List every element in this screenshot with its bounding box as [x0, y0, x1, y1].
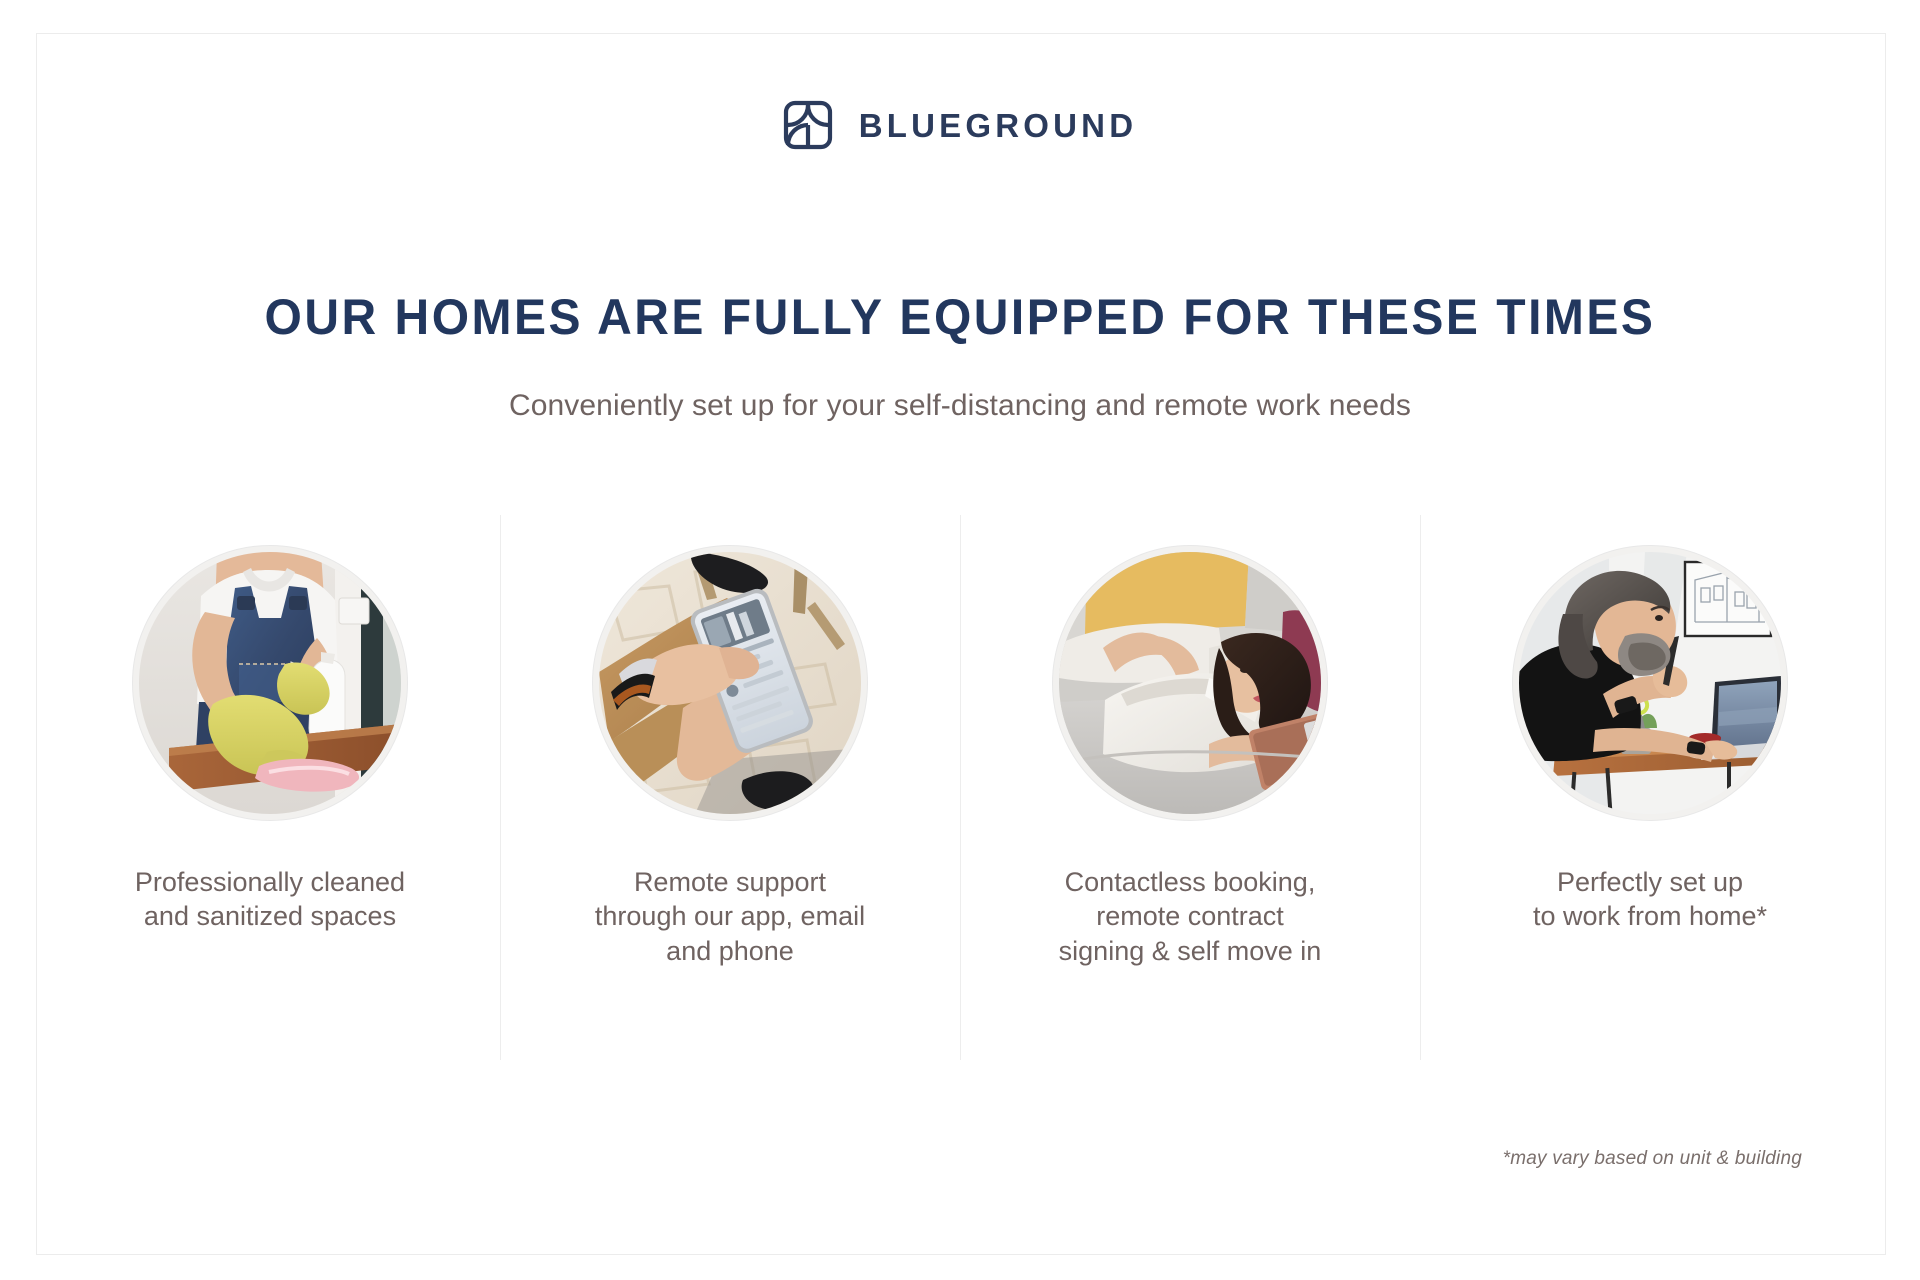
feature-caption: Remote support through our app, email an…	[565, 865, 895, 968]
contactless-booking-photo	[1052, 545, 1328, 821]
feature-column-cleaning: Professionally cleaned and sanitized spa…	[40, 515, 500, 1065]
feature-caption: Contactless booking, remote contract sig…	[1025, 865, 1355, 968]
mobile-app-support-photo	[592, 545, 868, 821]
blueground-logo-icon	[783, 100, 833, 150]
feature-caption: Perfectly set up to work from home*	[1485, 865, 1815, 934]
infographic-page: BLUEGROUND OUR HOMES ARE FULLY EQUIPPED …	[0, 0, 1920, 1280]
footnote-disclaimer: *may vary based on unit & building	[1503, 1148, 1802, 1170]
brand-lockup: BLUEGROUND	[0, 100, 1920, 150]
page-subtitle: Conveniently set up for your self-distan…	[0, 388, 1920, 424]
feature-column-contactless-booking: Contactless booking, remote contract sig…	[960, 515, 1420, 1065]
feature-caption: Professionally cleaned and sanitized spa…	[105, 865, 435, 934]
feature-columns: Professionally cleaned and sanitized spa…	[40, 515, 1880, 1065]
page-title: OUR HOMES ARE FULLY EQUIPPED FOR THESE T…	[38, 291, 1881, 344]
feature-column-remote-support: Remote support through our app, email an…	[500, 515, 960, 1065]
brand-wordmark: BLUEGROUND	[859, 109, 1138, 142]
feature-column-work-from-home: Perfectly set up to work from home*	[1420, 515, 1880, 1065]
cleaning-professional-photo	[132, 545, 408, 821]
work-from-home-photo	[1512, 545, 1788, 821]
